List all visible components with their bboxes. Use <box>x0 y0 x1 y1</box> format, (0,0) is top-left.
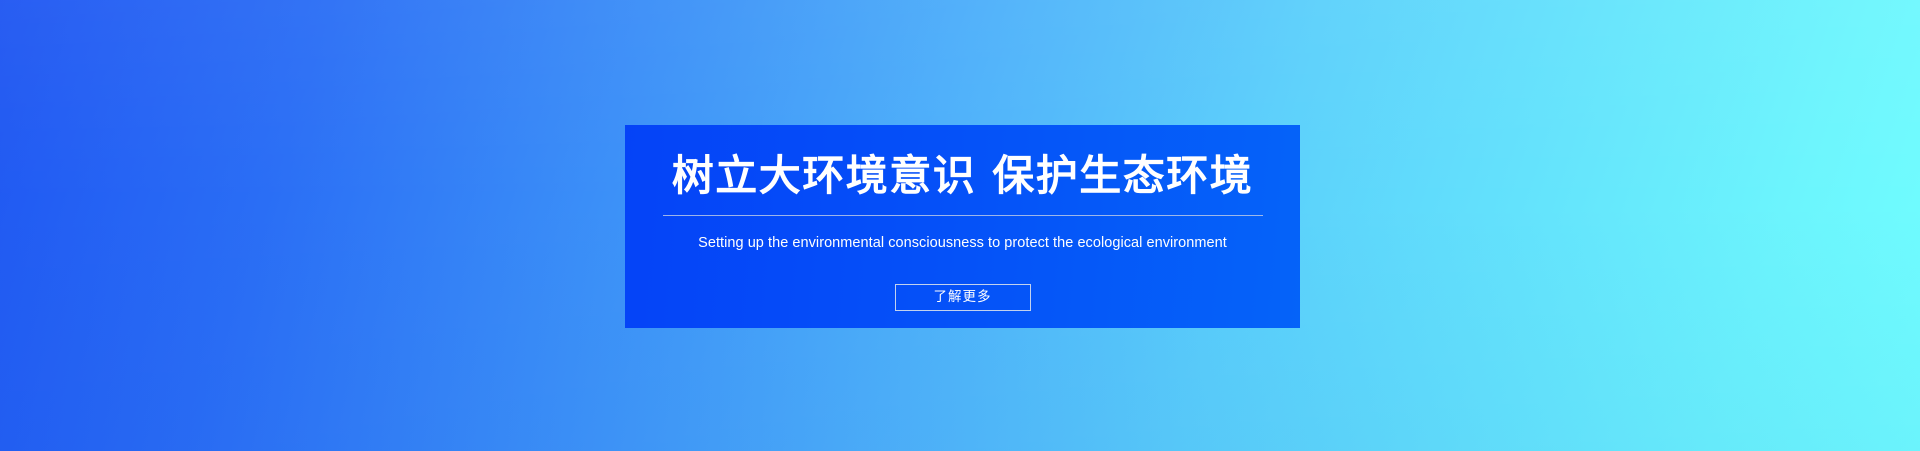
hero-title: 树立大环境意识 保护生态环境 <box>672 151 1254 201</box>
hero-card: 树立大环境意识 保护生态环境 Setting up the environmen… <box>625 125 1300 328</box>
hero-divider <box>663 215 1263 216</box>
hero-subtitle: Setting up the environmental consciousne… <box>698 233 1227 253</box>
hero-banner: 树立大环境意识 保护生态环境 Setting up the environmen… <box>0 0 1920 451</box>
learn-more-button[interactable]: 了解更多 <box>895 284 1031 311</box>
